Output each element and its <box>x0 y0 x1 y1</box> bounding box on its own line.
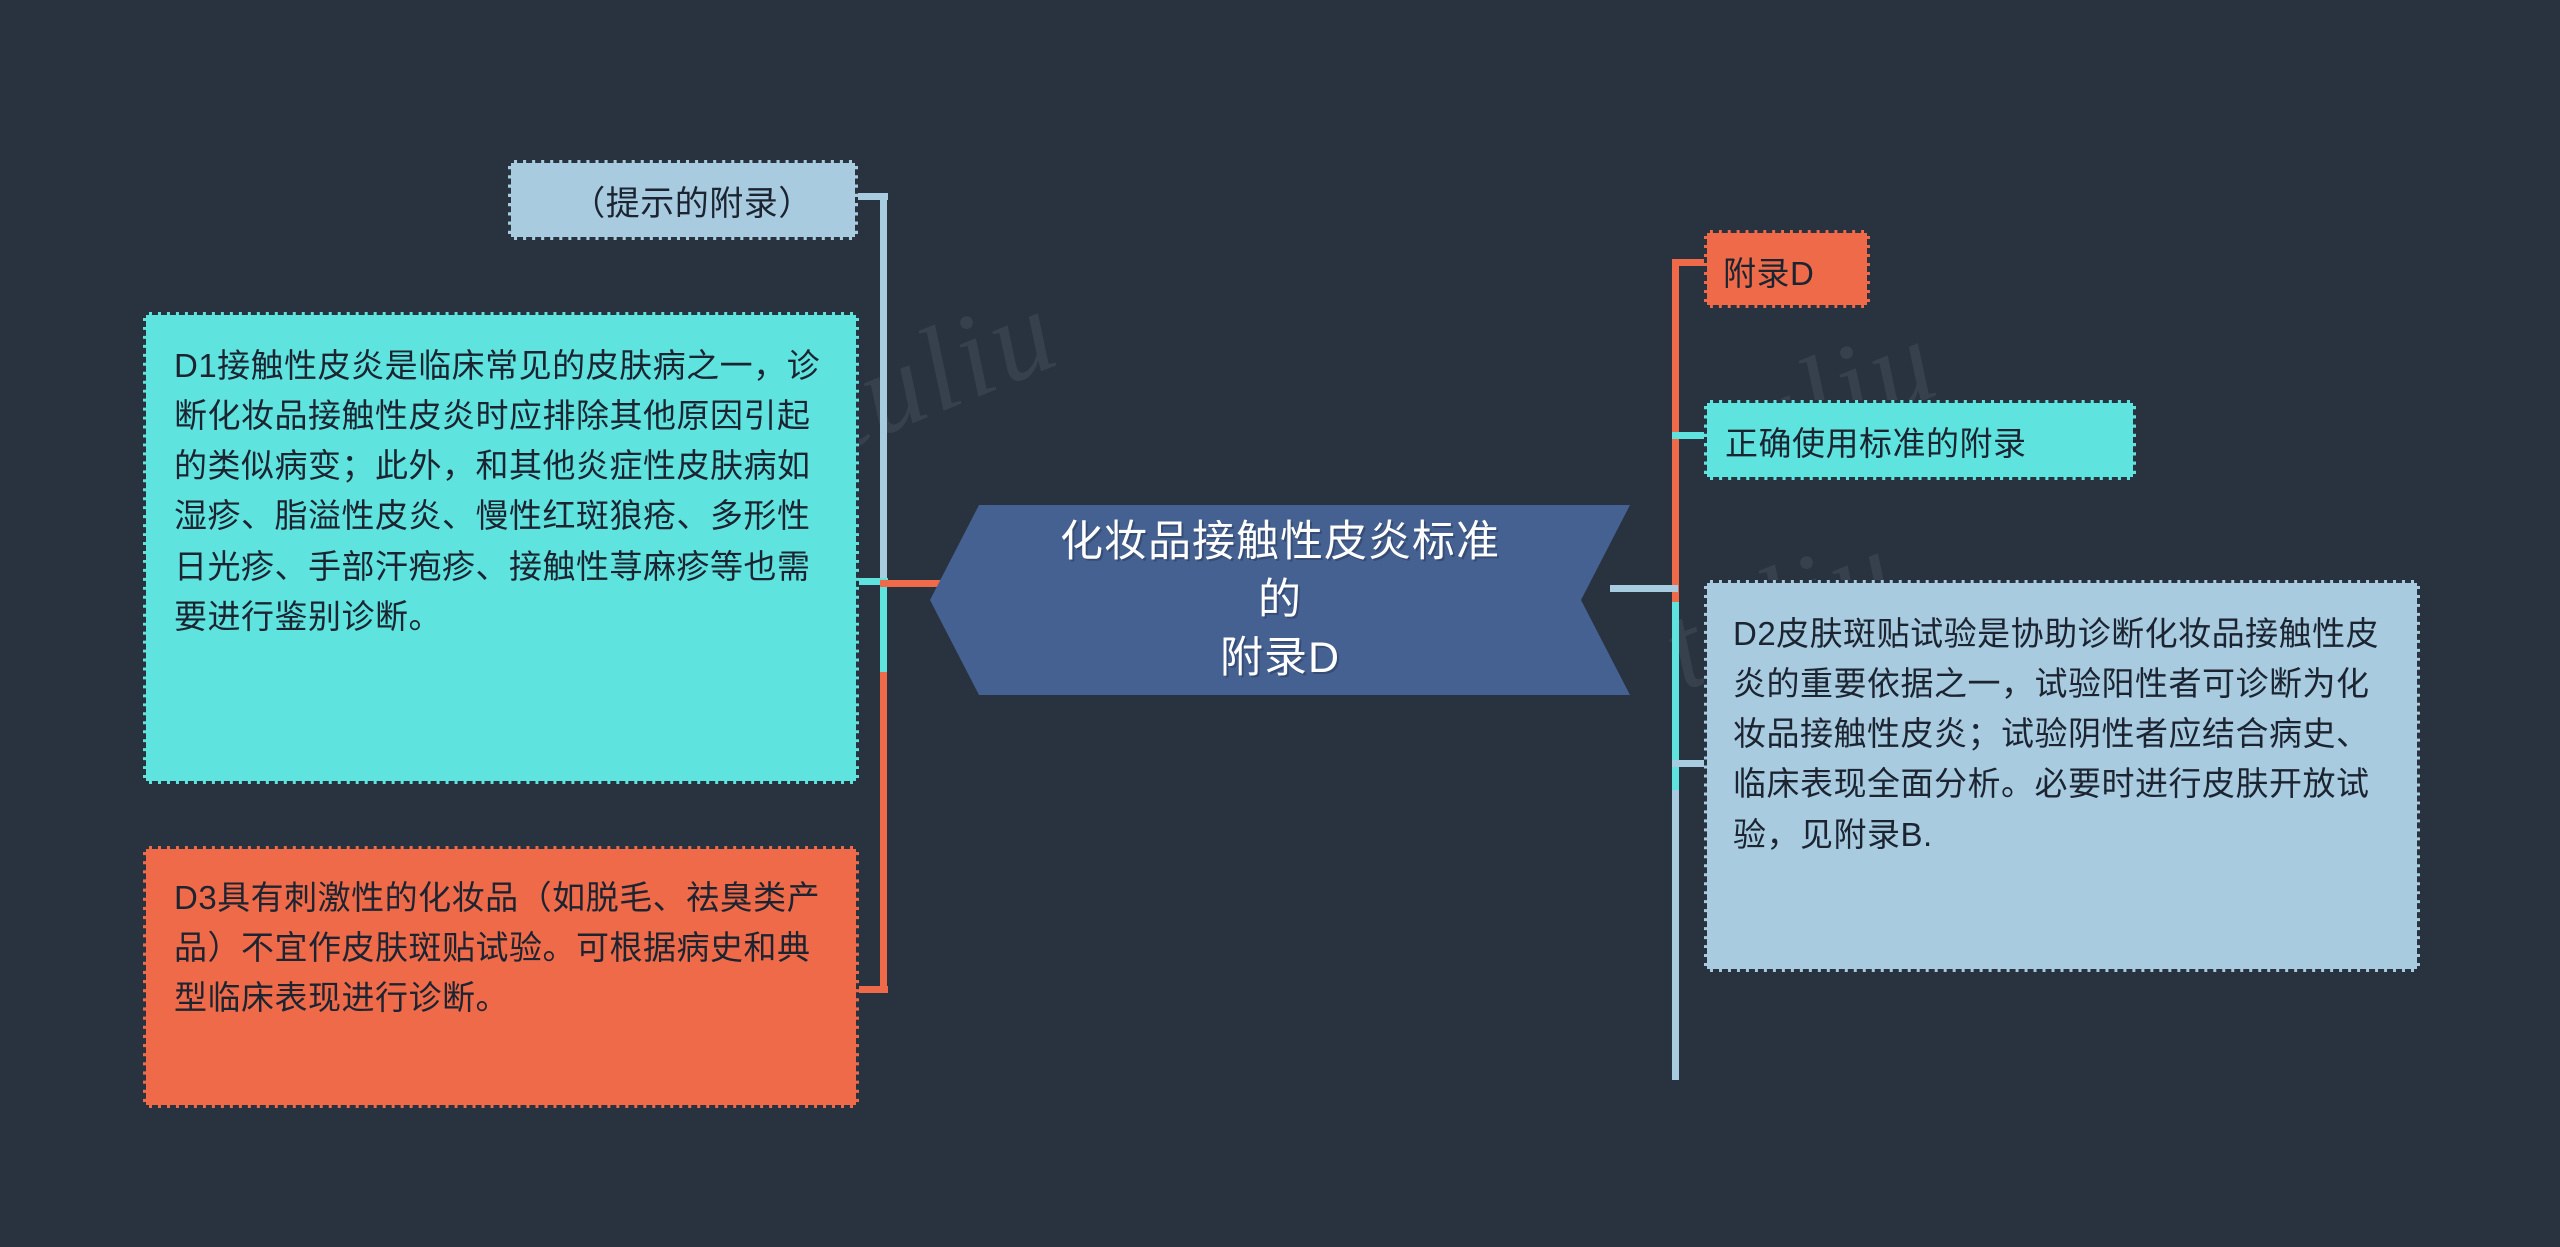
connector-left-spine-lightblue <box>880 196 887 586</box>
node-appendix-d[interactable]: 附录D <box>1704 230 1870 308</box>
connector-right-spine-lightblue <box>1672 790 1679 1080</box>
connector-stub-hint <box>856 193 888 200</box>
mindmap-canvas: tuliu tuliu tuliu tuliu （提示的附录） D1接触性皮炎是… <box>0 0 2560 1247</box>
node-center-topic[interactable]: 化妆品接触性皮炎标准的 附录D <box>930 505 1630 695</box>
connector-stub-d2 <box>1672 760 1708 767</box>
connector-left-spine-orange <box>880 672 887 992</box>
node-d2[interactable]: D2皮肤斑贴试验是协助诊断化妆品接触性皮炎的重要依据之一，试验阳性者可诊断为化妆… <box>1704 580 2420 972</box>
node-d1[interactable]: D1接触性皮炎是临床常见的皮肤病之一，诊断化妆品接触性皮炎时应排除其他原因引起的… <box>143 312 859 784</box>
center-topic-label: 化妆品接触性皮炎标准的 附录D <box>1060 513 1500 687</box>
node-correct-use[interactable]: 正确使用标准的附录 <box>1704 400 2136 480</box>
connector-right-to-center <box>1610 585 1678 592</box>
node-d3[interactable]: D3具有刺激性的化妆品（如脱毛、祛臭类产品）不宜作皮肤斑贴试验。可根据病史和典型… <box>143 846 859 1108</box>
connector-stub-appendix-d <box>1672 259 1708 266</box>
connector-stub-correct-use <box>1672 432 1708 439</box>
node-hint-appendix[interactable]: （提示的附录） <box>508 160 858 240</box>
connector-left-to-center <box>880 580 946 587</box>
connector-stub-d3 <box>856 986 888 993</box>
